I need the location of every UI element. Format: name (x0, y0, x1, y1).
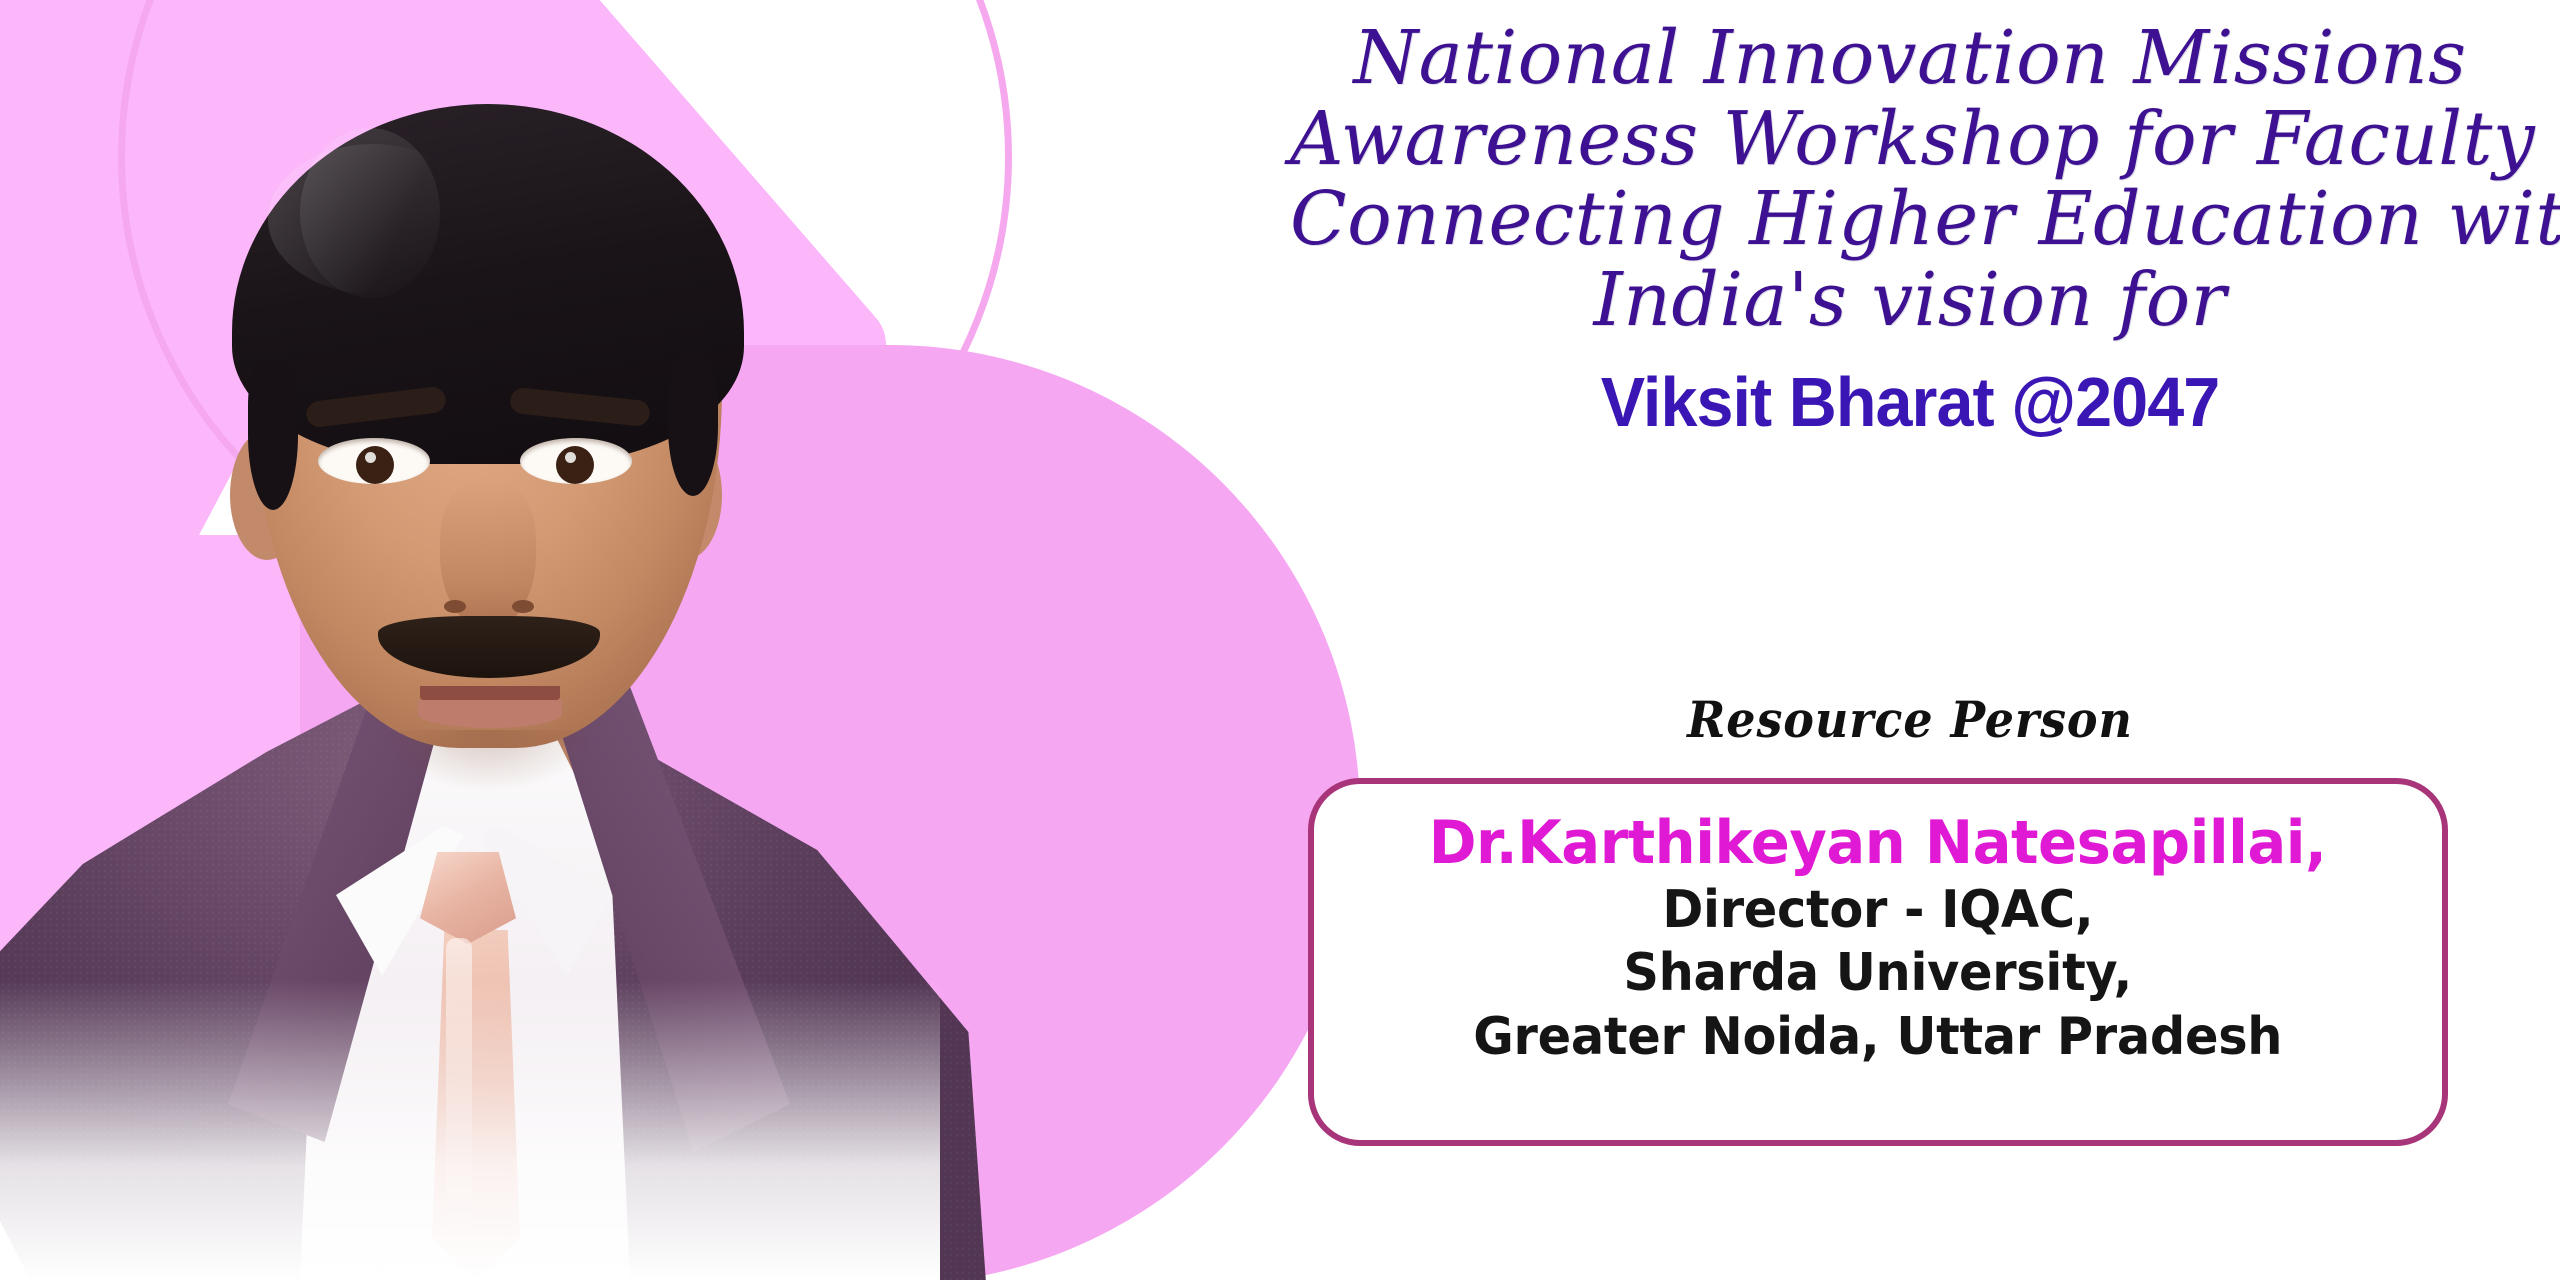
resource-person-label: Resource Person (1340, 690, 2481, 749)
speaker-location: Greater Noida, Uttar Pradesh (1474, 1006, 2283, 1069)
poster-content: National Innovation Missions Awareness W… (1290, 0, 2560, 1280)
speaker-name: Dr.Karthikeyan Natesapillai, (1429, 808, 2327, 879)
lower-lip (418, 700, 562, 728)
sideburn-left (248, 360, 298, 510)
title-line-4: India's vision for (1290, 260, 2530, 341)
speaker-designation: Director - IQAC, (1663, 879, 2094, 942)
hair-parting (300, 128, 440, 298)
speaker-institution: Sharda University, (1624, 942, 2133, 1005)
title-line-2: Awareness Workshop for Faculty (1290, 99, 2530, 180)
speaker-portrait-photo (0, 0, 940, 1280)
sideburn-right (668, 356, 718, 496)
title-line-1: National Innovation Missions (1290, 18, 2530, 99)
photo-bottom-fade (0, 980, 940, 1280)
iris-left (356, 446, 394, 484)
speaker-card: Dr.Karthikeyan Natesapillai, Director - … (1308, 778, 2448, 1146)
title-line-3: Connecting Higher Education with (1290, 179, 2530, 260)
nostril-right (512, 600, 534, 613)
poster-title: National Innovation Missions Awareness W… (1290, 18, 2530, 449)
nostril-left (444, 600, 466, 613)
event-poster: National Innovation Missions Awareness W… (0, 0, 2560, 1280)
chin-shadow (386, 730, 592, 790)
title-accent-viksit-bharat: Viksit Bharat @2047 (1321, 355, 2499, 450)
iris-right (556, 446, 594, 484)
